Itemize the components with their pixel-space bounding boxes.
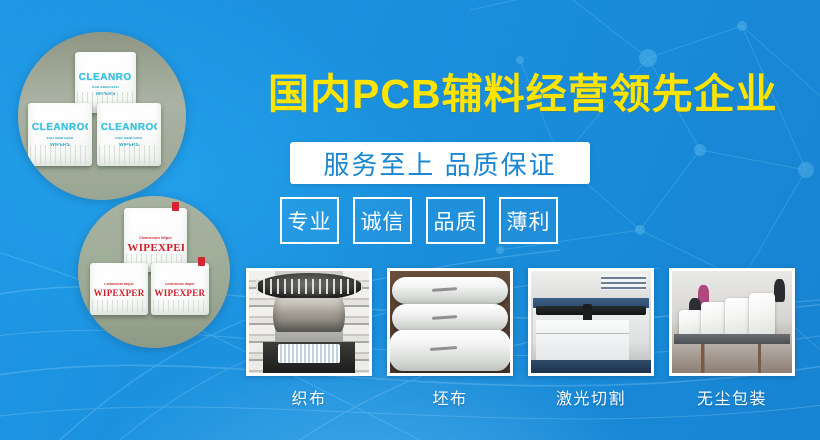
pack-sub-label: ESD SANITIZED [79, 86, 132, 90]
process-photo-strip: 织布 坯布 [246, 268, 795, 409]
pack-brand-label: CLEANROOM [101, 123, 157, 133]
pack-sub-label: ESD SANITIZED [32, 137, 88, 141]
tag-label: 品质 [434, 206, 478, 236]
cleanroom-wipes-photo: CLEANROOM ESD SANITIZED WIPERS CLEANROOM… [18, 32, 186, 200]
tag-label: 专业 [288, 206, 332, 236]
wipexperts-wipes-photo: Cleanroom Wiper WIPEXPERTS Cleanroom Wip… [78, 196, 230, 348]
tag-box-quality[interactable]: 品质 [426, 197, 485, 244]
tag-label: 薄利 [507, 206, 551, 236]
slogan-bar: 服务至上 品质保证 [290, 142, 590, 184]
tag-box-group: 专业 诚信 品质 薄利 [280, 197, 558, 244]
greige-fabric-rolls-photo [387, 268, 513, 376]
promo-banner: CLEANROOM ESD SANITIZED WIPERS CLEANROOM… [0, 0, 820, 440]
pack-brand-label: CLEANROOM [32, 123, 88, 133]
pack-sub-label: Cleanroom Wiper [154, 283, 205, 287]
process-step-weaving[interactable]: 织布 [246, 268, 372, 409]
process-step-label: 激光切割 [556, 385, 626, 409]
banner-headline: 国内PCB辅料经营领先企业 [268, 74, 798, 115]
pack-sub-label: ESD SANITIZED [101, 137, 157, 141]
pack-brand-label: WIPEXPERTS [94, 289, 145, 298]
tag-box-professional[interactable]: 专业 [280, 197, 339, 244]
process-step-cleanroom-packing[interactable]: 无尘包装 [669, 268, 795, 409]
pack-sub-label: Cleanroom Wiper [94, 283, 145, 287]
cleanroom-packing-photo [669, 268, 795, 376]
process-step-label: 织布 [291, 385, 326, 409]
pack-brand-label: CLEANROOM [79, 73, 132, 83]
pack-sub-label: Cleanroom Wiper [127, 236, 183, 240]
pack-brand-label: WIPEXPERTS [127, 243, 183, 254]
laser-cutting-machine-photo [528, 268, 654, 376]
pack-brand-label: WIPEXPERTS [154, 289, 205, 298]
circular-knitting-machine-photo [246, 268, 372, 376]
process-step-label: 无尘包装 [697, 385, 767, 409]
slogan-text: 服务至上 品质保证 [323, 145, 556, 182]
tag-box-integrity[interactable]: 诚信 [353, 197, 412, 244]
tag-label: 诚信 [361, 206, 405, 236]
tag-box-low-margin[interactable]: 薄利 [499, 197, 558, 244]
process-step-greige-fabric[interactable]: 坯布 [387, 268, 513, 409]
process-step-laser-cutting[interactable]: 激光切割 [528, 268, 654, 409]
process-step-label: 坯布 [432, 385, 467, 409]
